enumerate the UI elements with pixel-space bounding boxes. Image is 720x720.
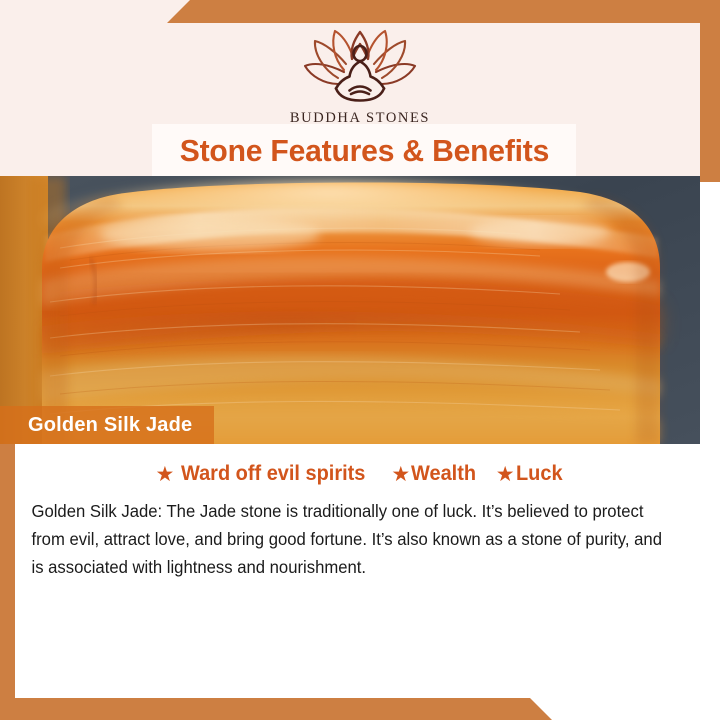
bottom-accent-bar [0,698,720,720]
benefits-list: ★ Ward off evil spirits ★ Wealth ★ Luck [15,444,705,486]
photo-caption: Golden Silk Jade [0,406,214,444]
product-photo: Golden Silk Jade [0,176,700,444]
benefit-label: Luck [516,462,563,486]
description-text: Golden Silk Jade: The Jade stone is trad… [15,498,684,582]
content-panel: ★ Ward off evil spirits ★ Wealth ★ Luck … [15,444,705,582]
golden-silk-jade-stone-photo [0,176,700,444]
left-accent-strip [0,440,15,720]
benefit-item: ★ Ward off evil spirits [155,462,375,486]
benefit-item: ★ Wealth [391,462,479,486]
brand-logo: BUDDHA STONES [0,28,720,127]
star-icon: ★ [391,464,410,485]
benefit-item: ★ Luck [496,462,565,486]
star-icon: ★ [496,464,515,485]
star-icon: ★ [155,464,174,485]
page-title: Stone Features & Benefits [179,133,548,169]
benefit-label: Ward off evil spirits [181,462,365,486]
lotus-meditation-icon [298,28,422,106]
title-banner: Stone Features & Benefits [152,124,576,178]
benefit-label: Wealth [411,462,476,486]
product-feature-card: BUDDHA STONES Stone Features & Benefits [0,0,720,720]
